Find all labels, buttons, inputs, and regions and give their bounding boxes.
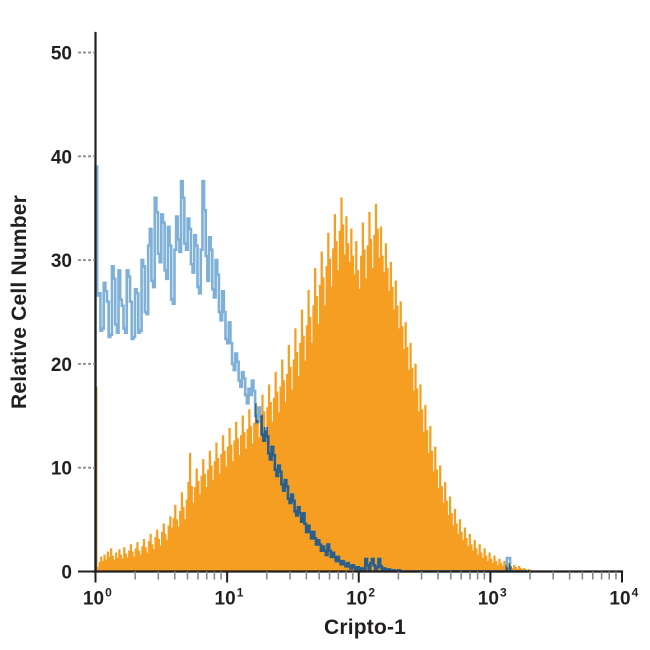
y-tick-label: 10 bbox=[51, 459, 72, 480]
x-tick-label: 101 bbox=[215, 586, 244, 610]
x-tick-label: 100 bbox=[83, 586, 112, 610]
x-tick-exponent: 0 bbox=[105, 586, 112, 600]
y-tick-label: 50 bbox=[51, 44, 72, 65]
x-tick-base: 10 bbox=[478, 589, 499, 610]
series-layer bbox=[96, 167, 534, 572]
x-tick-base: 10 bbox=[609, 589, 630, 610]
x-ticks bbox=[96, 572, 623, 583]
x-tick-label: 104 bbox=[609, 586, 638, 610]
y-tick-label: 20 bbox=[51, 355, 72, 376]
y-axis-title: Relative Cell Number bbox=[8, 195, 31, 409]
y-ticks bbox=[78, 53, 95, 572]
histogram-plot: 100101102103104 01020304050 Cripto-1 Rel… bbox=[0, 0, 650, 650]
x-tick-label: 103 bbox=[478, 586, 507, 610]
x-tick-exponent: 4 bbox=[632, 586, 639, 600]
y-tick-label: 0 bbox=[61, 563, 72, 584]
x-tick-labels: 100101102103104 bbox=[83, 586, 639, 610]
x-tick-exponent: 3 bbox=[500, 586, 507, 600]
flow-cytometry-figure: 100101102103104 01020304050 Cripto-1 Rel… bbox=[0, 0, 650, 650]
x-tick-base: 10 bbox=[346, 589, 367, 610]
x-tick-exponent: 1 bbox=[237, 586, 244, 600]
x-tick-base: 10 bbox=[215, 589, 236, 610]
x-axis-title: Cripto-1 bbox=[324, 616, 406, 639]
y-tick-labels: 01020304050 bbox=[51, 44, 72, 584]
x-tick-label: 102 bbox=[346, 586, 375, 610]
x-tick-exponent: 2 bbox=[368, 586, 375, 600]
y-tick-label: 30 bbox=[51, 251, 72, 272]
y-tick-label: 40 bbox=[51, 147, 72, 168]
x-tick-base: 10 bbox=[83, 589, 104, 610]
